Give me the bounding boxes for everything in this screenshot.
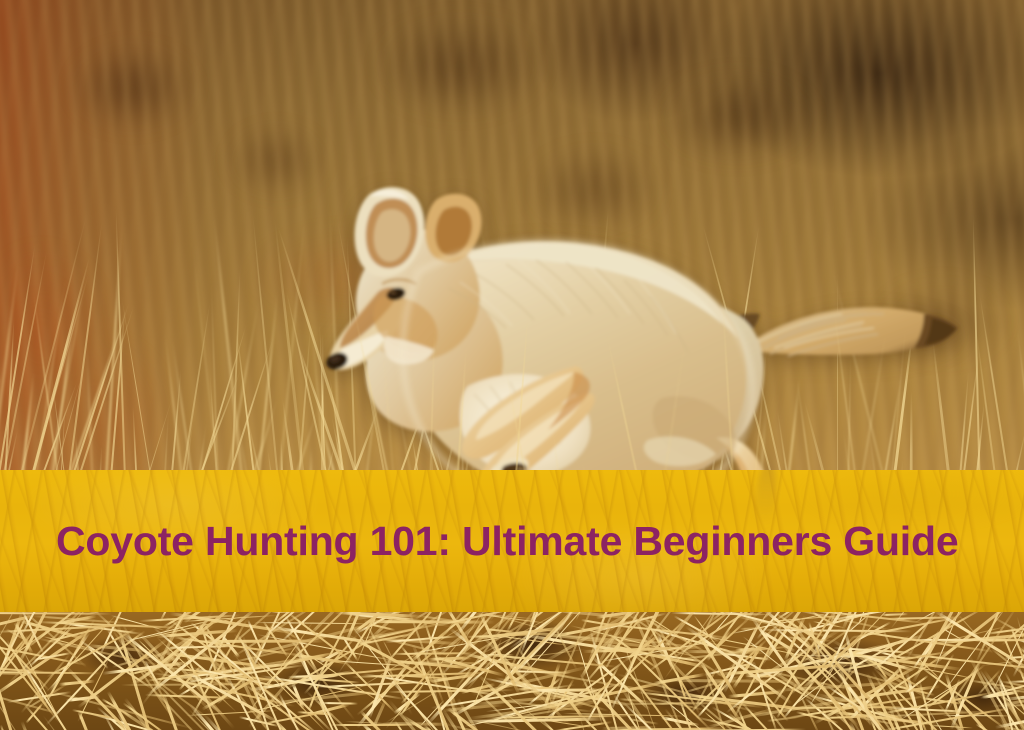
hero-banner-image: Coyote Hunting 101: Ultimate Beginners G… [0, 0, 1024, 730]
straw-strand [882, 613, 908, 616]
banner-title: Coyote Hunting 101: Ultimate Beginners G… [56, 470, 958, 612]
foreground-straw-strands [0, 608, 1024, 730]
title-band: Coyote Hunting 101: Ultimate Beginners G… [0, 470, 1024, 612]
foreground-dry-grass [0, 608, 1024, 730]
